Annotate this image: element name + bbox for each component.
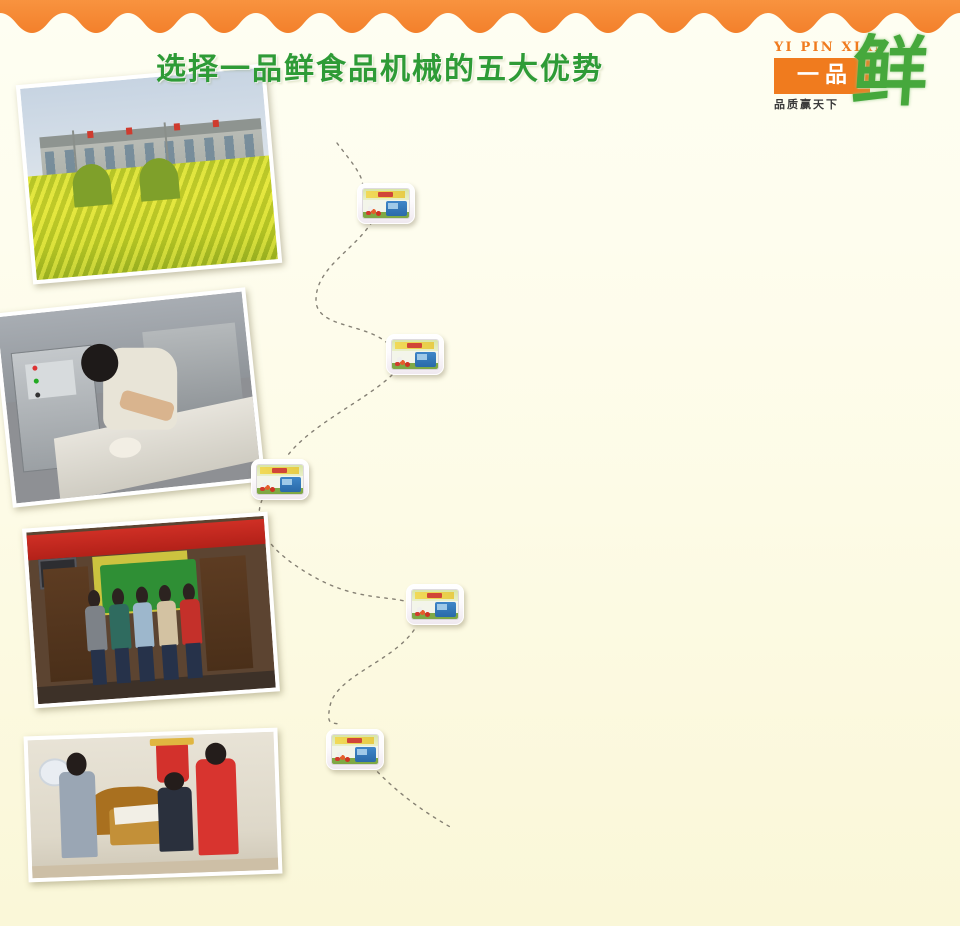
thumbnail-2-image bbox=[392, 340, 438, 369]
photo-factory-image bbox=[20, 68, 278, 280]
thumbnail-3-image bbox=[257, 465, 303, 494]
thumbnail-3[interactable] bbox=[251, 459, 309, 500]
thumbnail-5[interactable] bbox=[326, 729, 384, 770]
scalloped-orange-border bbox=[0, 0, 960, 34]
photo-workshop-image bbox=[0, 292, 261, 504]
thumbnail-4-image bbox=[412, 590, 458, 619]
thumbnail-1-image bbox=[363, 189, 409, 218]
logo-slogan: 品质赢天下 bbox=[774, 96, 874, 112]
page-title: 选择一品鲜食品机械的五大优势 bbox=[0, 44, 760, 88]
thumbnail-1[interactable] bbox=[357, 183, 415, 224]
thumbnail-5-image bbox=[332, 735, 378, 764]
photo-meeting-image bbox=[28, 732, 279, 879]
promo-page: 选择一品鲜食品机械的五大优势 YI PIN XIAN 一品 鲜 品质赢天下 bbox=[0, 0, 960, 926]
photo-group[interactable] bbox=[22, 512, 280, 709]
brand-logo[interactable]: YI PIN XIAN 一品 鲜 品质赢天下 bbox=[770, 38, 950, 116]
thumbnail-2[interactable] bbox=[386, 334, 444, 375]
photo-group-image bbox=[26, 516, 275, 704]
photo-meeting[interactable] bbox=[24, 728, 283, 883]
photo-factory[interactable] bbox=[16, 63, 282, 284]
thumbnail-4[interactable] bbox=[406, 584, 464, 625]
photo-workshop[interactable] bbox=[0, 287, 265, 507]
